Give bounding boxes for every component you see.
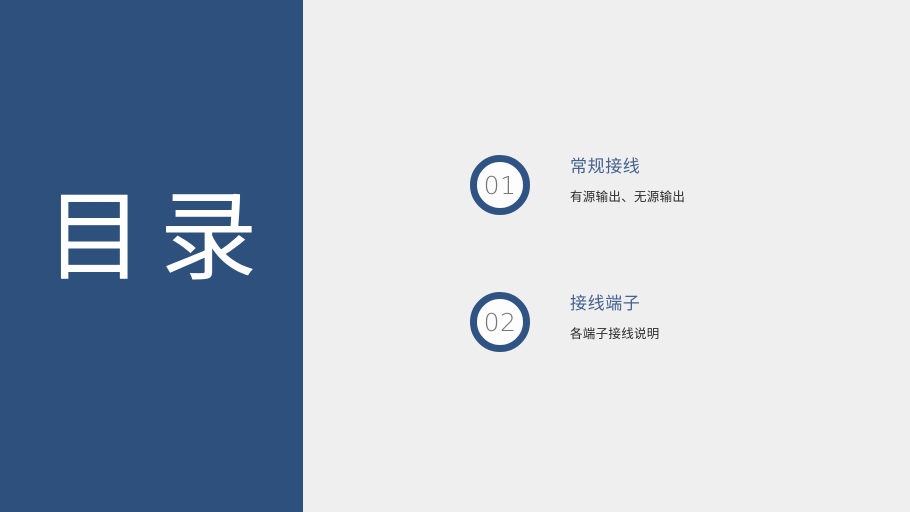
contents-panel: 01 常规接线 有源输出、无源输出 02 接线端子 各端子接线说明: [303, 0, 910, 512]
toc-subtitle: 有源输出、无源输出: [570, 187, 870, 207]
toc-text-block: 接线端子 各端子接线说明: [570, 292, 870, 344]
toc-number-badge: 01: [470, 155, 530, 215]
toc-heading: 常规接线: [570, 155, 870, 179]
toc-heading: 接线端子: [570, 292, 870, 316]
toc-subtitle: 各端子接线说明: [570, 324, 870, 344]
page-title: 目录: [0, 186, 303, 290]
toc-item[interactable]: 01 常规接线 有源输出、无源输出: [470, 155, 890, 215]
toc-text-block: 常规接线 有源输出、无源输出: [570, 155, 870, 207]
toc-number: 01: [484, 173, 517, 198]
toc-list: 01 常规接线 有源输出、无源输出 02 接线端子 各端子接线说明: [470, 155, 890, 352]
title-panel: 目录: [0, 0, 303, 512]
toc-number-badge: 02: [470, 292, 530, 352]
toc-item[interactable]: 02 接线端子 各端子接线说明: [470, 292, 890, 352]
slide-contents-page: 目录 01 常规接线 有源输出、无源输出 02 接线端子: [0, 0, 910, 512]
toc-number: 02: [484, 310, 517, 335]
